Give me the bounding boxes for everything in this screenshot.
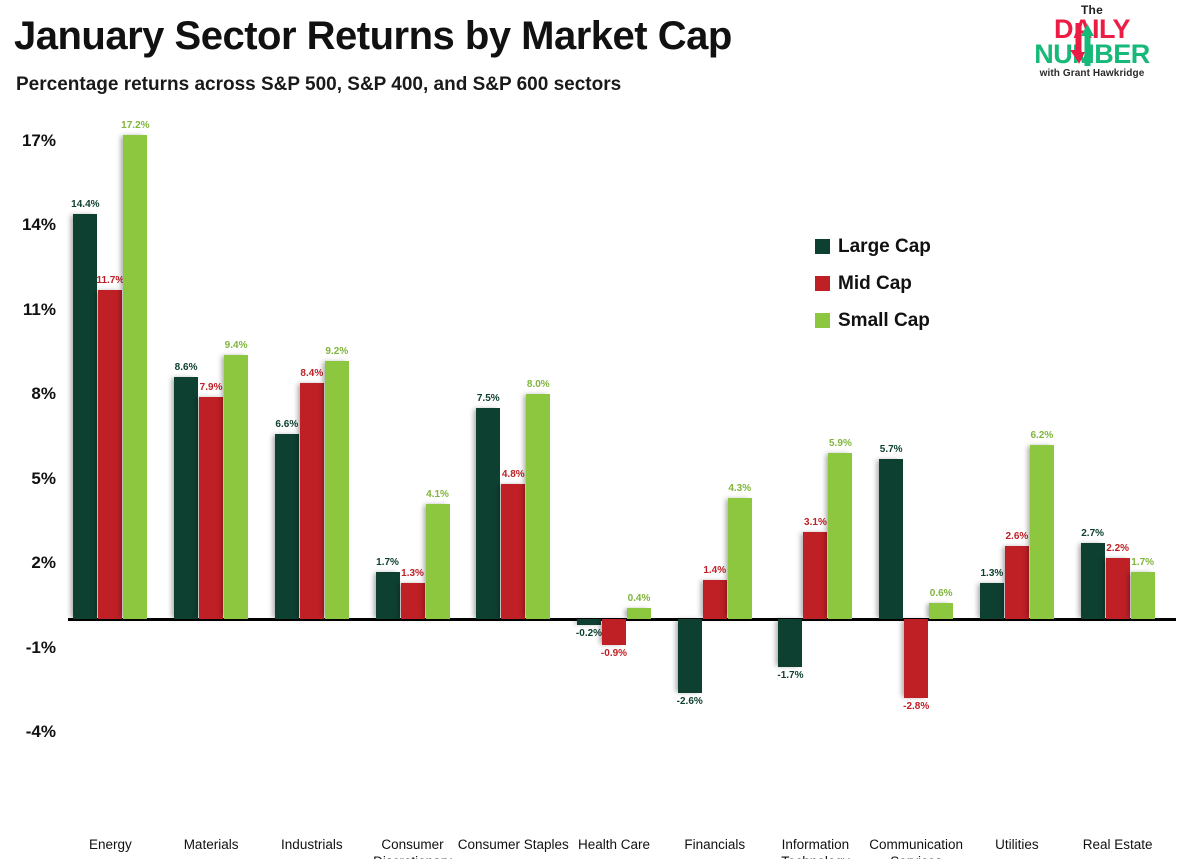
- bar-value-label: 0.6%: [930, 588, 953, 599]
- bar-value-label: -2.8%: [903, 701, 929, 712]
- bar-group: 14.4%11.7%17.2%Energy: [68, 110, 169, 830]
- bar-value-label: 11.7%: [96, 275, 124, 286]
- bar-value-label: 14.4%: [71, 199, 99, 210]
- bar[interactable]: [627, 608, 651, 619]
- bar-value-label: -1.7%: [777, 670, 803, 681]
- bar-group: 1.7%1.3%4.1%Consumer Discretionary: [370, 110, 471, 830]
- bar-value-label: 8.6%: [175, 362, 198, 373]
- bar-value-label: 3.1%: [804, 517, 827, 528]
- legend-swatch-icon: [815, 276, 830, 291]
- bar[interactable]: [678, 619, 702, 692]
- bar-group: 7.5%4.8%8.0%Consumer Staples: [471, 110, 572, 830]
- legend-label: Mid Cap: [838, 273, 912, 295]
- y-axis-tick: 8%: [0, 384, 56, 404]
- y-axis-tick: 14%: [0, 215, 56, 235]
- bar-value-label: 1.7%: [1131, 557, 1154, 568]
- bar[interactable]: [1005, 546, 1029, 619]
- bar-value-label: 4.3%: [728, 483, 751, 494]
- bar[interactable]: [728, 498, 752, 619]
- bar[interactable]: [501, 484, 525, 619]
- bar-value-label: 1.4%: [703, 565, 726, 576]
- bar-group: 1.3%2.6%6.2%Utilities: [975, 110, 1076, 830]
- plot-area: 14.4%11.7%17.2%Energy8.6%7.9%9.4%Materia…: [68, 110, 1176, 830]
- bar-value-label: 17.2%: [121, 120, 149, 131]
- y-axis-tick: 11%: [0, 300, 56, 320]
- bar-value-label: -0.2%: [576, 628, 602, 639]
- y-axis-tick: -4%: [0, 722, 56, 742]
- legend-swatch-icon: [815, 239, 830, 254]
- bar[interactable]: [174, 377, 198, 619]
- bar-value-label: 5.9%: [829, 438, 852, 449]
- bar-value-label: 0.4%: [628, 593, 651, 604]
- bar[interactable]: [904, 619, 928, 698]
- bar[interactable]: [300, 383, 324, 619]
- bar-group: 8.6%7.9%9.4%Materials: [169, 110, 270, 830]
- chart-legend: Large CapMid CapSmall Cap: [815, 228, 995, 339]
- bar[interactable]: [224, 355, 248, 620]
- bar[interactable]: [803, 532, 827, 619]
- bar[interactable]: [1030, 445, 1054, 619]
- brand-logo: The DAILY NUMBER with Grant Hawkridge: [1014, 4, 1170, 80]
- bar-chart: 14.4%11.7%17.2%Energy8.6%7.9%9.4%Materia…: [0, 110, 1184, 859]
- bar-group: -2.6%1.4%4.3%Financials: [672, 110, 773, 830]
- bar-group: 2.7%2.2%1.7%Real Estate: [1075, 110, 1176, 830]
- page-subtitle: Percentage returns across S&P 500, S&P 4…: [16, 74, 621, 96]
- bar[interactable]: [376, 572, 400, 620]
- bar-group: 5.7%-2.8%0.6%Communication Services: [874, 110, 975, 830]
- bar-value-label: 2.6%: [1005, 531, 1028, 542]
- y-axis-tick: 17%: [0, 131, 56, 151]
- legend-item-lg[interactable]: Large Cap: [815, 228, 995, 265]
- bar[interactable]: [275, 434, 299, 620]
- bar[interactable]: [73, 214, 97, 619]
- bar-value-label: 4.1%: [426, 489, 449, 500]
- bar[interactable]: [703, 580, 727, 619]
- y-axis-tick: 5%: [0, 469, 56, 489]
- bar-value-label: 5.7%: [880, 444, 903, 455]
- bar-value-label: 7.9%: [200, 382, 223, 393]
- bar-value-label: 9.4%: [225, 340, 248, 351]
- bar[interactable]: [929, 603, 953, 620]
- bar-value-label: 8.4%: [300, 368, 323, 379]
- bar[interactable]: [401, 583, 425, 620]
- bar[interactable]: [123, 135, 147, 619]
- bar[interactable]: [1131, 572, 1155, 620]
- bar-value-label: 1.7%: [376, 557, 399, 568]
- legend-item-sm[interactable]: Small Cap: [815, 302, 995, 339]
- bar[interactable]: [199, 397, 223, 619]
- bar[interactable]: [602, 619, 626, 644]
- chart-page: January Sector Returns by Market Cap Per…: [0, 0, 1184, 859]
- bar-value-label: 8.0%: [527, 379, 550, 390]
- bar-value-label: 4.8%: [502, 469, 525, 480]
- bar[interactable]: [1106, 558, 1130, 620]
- bar-value-label: 2.7%: [1081, 528, 1104, 539]
- bar[interactable]: [980, 583, 1004, 620]
- bar-value-label: 1.3%: [401, 568, 424, 579]
- bar[interactable]: [778, 619, 802, 667]
- bar[interactable]: [577, 619, 601, 625]
- bar-value-label: 1.3%: [980, 568, 1003, 579]
- legend-item-md[interactable]: Mid Cap: [815, 265, 995, 302]
- bar[interactable]: [476, 408, 500, 619]
- bar[interactable]: [426, 504, 450, 619]
- bar[interactable]: [828, 453, 852, 619]
- bar-value-label: 9.2%: [325, 346, 348, 357]
- y-axis-tick: -1%: [0, 638, 56, 658]
- legend-label: Small Cap: [838, 310, 930, 332]
- bar-value-label: 2.2%: [1106, 543, 1129, 554]
- bar[interactable]: [879, 459, 903, 619]
- y-axis-tick: 2%: [0, 553, 56, 573]
- bar-value-label: 6.2%: [1030, 430, 1053, 441]
- bar-group: -0.2%-0.9%0.4%Health Care: [572, 110, 673, 830]
- bar-value-label: -2.6%: [677, 696, 703, 707]
- bar-value-label: -0.9%: [601, 648, 627, 659]
- bar-value-label: 7.5%: [477, 393, 500, 404]
- bar[interactable]: [526, 394, 550, 619]
- bar[interactable]: [1081, 543, 1105, 619]
- legend-swatch-icon: [815, 313, 830, 328]
- x-axis-label: Real Estate: [1053, 836, 1183, 853]
- bar[interactable]: [325, 361, 349, 620]
- legend-label: Large Cap: [838, 236, 931, 258]
- page-title: January Sector Returns by Market Cap: [14, 14, 732, 59]
- bar-group: -1.7%3.1%5.9%Information Technology: [773, 110, 874, 830]
- logo-number: NUMBER: [1014, 42, 1170, 67]
- bar-value-label: 6.6%: [275, 419, 298, 430]
- bar-group: 6.6%8.4%9.2%Industrials: [269, 110, 370, 830]
- bar[interactable]: [98, 290, 122, 619]
